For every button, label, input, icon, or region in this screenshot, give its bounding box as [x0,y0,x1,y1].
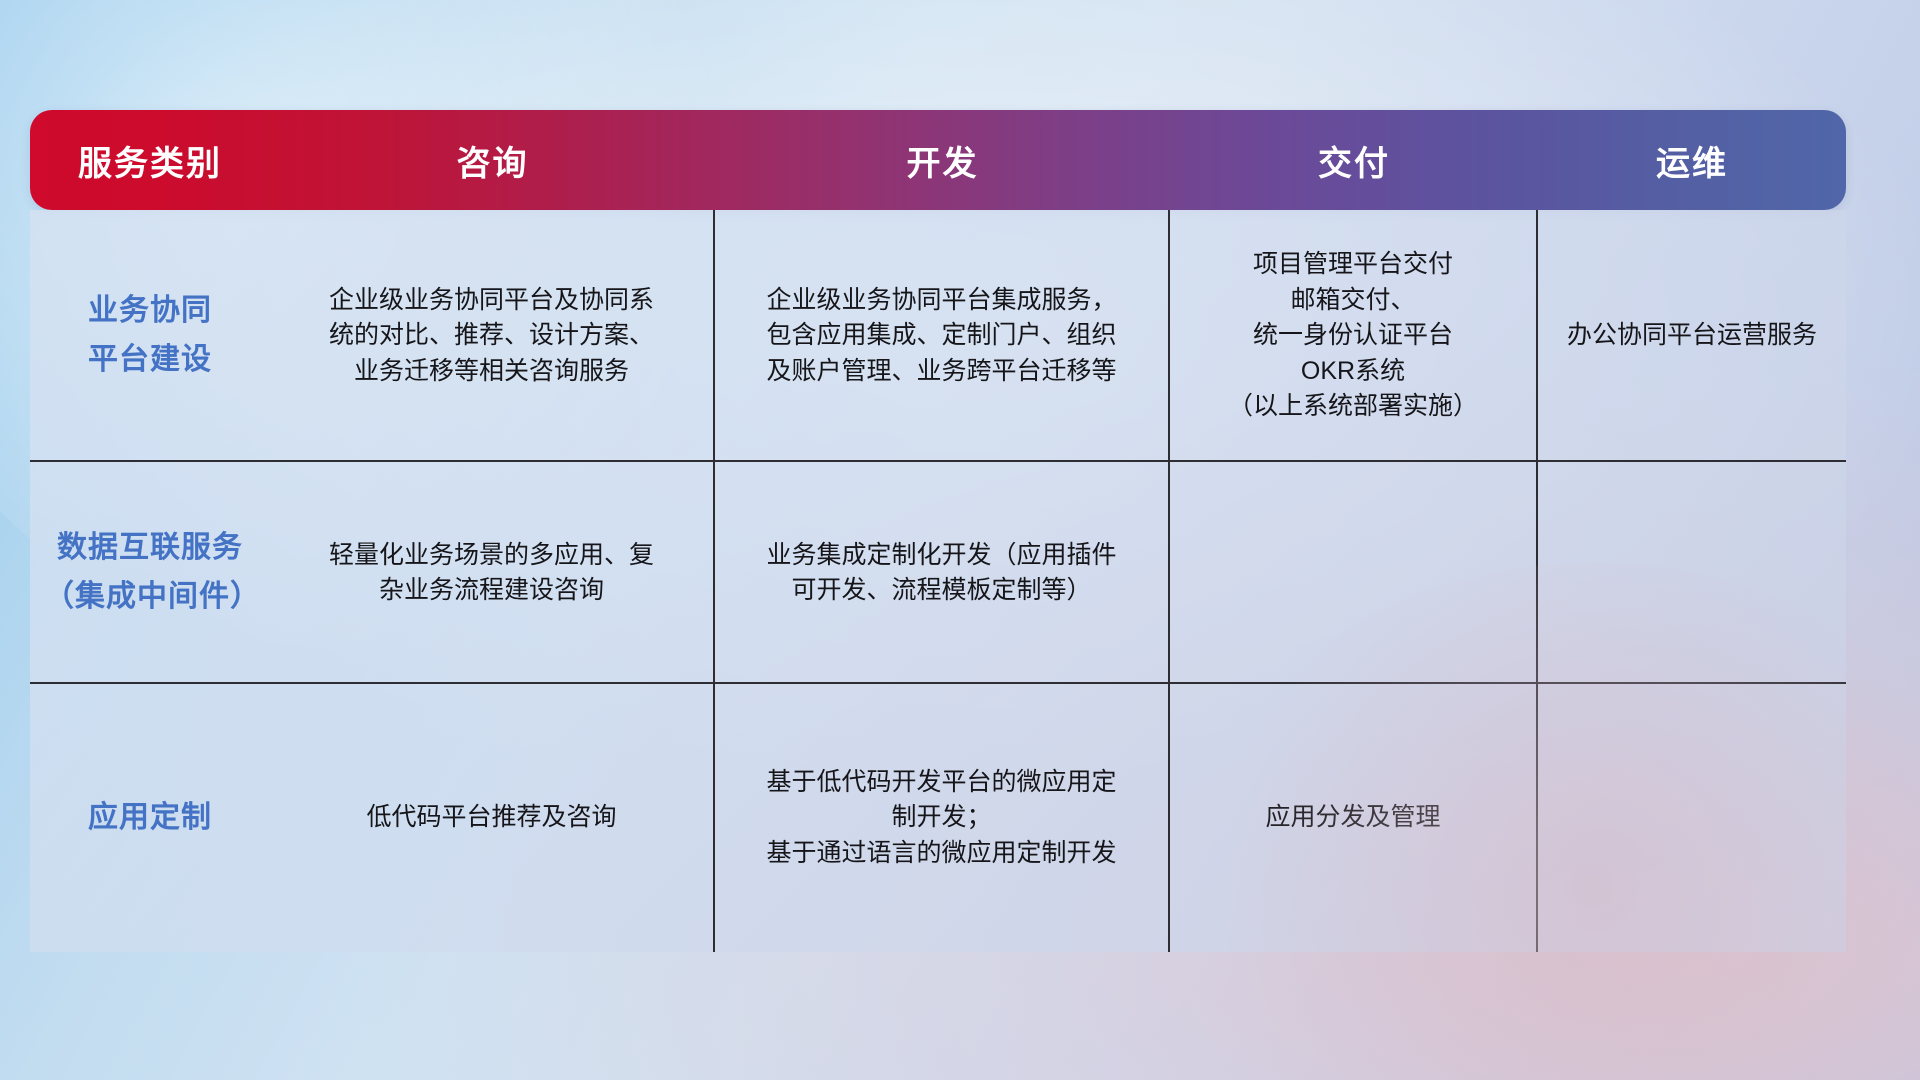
service-matrix-table: 服务类别咨询开发交付运维 业务协同 平台建设企业级业务协同平台及协同系 统的对比… [30,110,1890,960]
column-header-category: 服务类别 [30,136,270,185]
row-category-label: 应用定制 [30,684,270,952]
table-row: 数据互联服务 （集成中间件）轻量化业务场景的多应用、复 杂业务流程建设咨询业务集… [30,462,1846,684]
column-header-development: 开发 [715,136,1170,185]
row-category-label: 数据互联服务 （集成中间件） [30,462,270,684]
table-cell-delivery: 应用分发及管理 [1170,684,1538,952]
column-header-consulting: 咨询 [270,136,715,185]
table-body: 业务协同 平台建设企业级业务协同平台及协同系 统的对比、推荐、设计方案、 业务迁… [30,210,1846,952]
slide-canvas: 服务类别咨询开发交付运维 业务协同 平台建设企业级业务协同平台及协同系 统的对比… [0,0,1920,1080]
table-cell-development: 基于低代码开发平台的微应用定 制开发； 基于通过语言的微应用定制开发 [715,684,1170,952]
table-row: 业务协同 平台建设企业级业务协同平台及协同系 统的对比、推荐、设计方案、 业务迁… [30,210,1846,462]
table-cell-development: 企业级业务协同平台集成服务， 包含应用集成、定制门户、组织 及账户管理、业务跨平… [715,210,1170,462]
table-cell-operations [1538,462,1846,684]
table-row: 应用定制低代码平台推荐及咨询基于低代码开发平台的微应用定 制开发； 基于通过语言… [30,684,1846,952]
column-header-operations: 运维 [1538,136,1846,185]
table-cell-operations: 办公协同平台运营服务 [1538,210,1846,462]
table-cell-consulting: 企业级业务协同平台及协同系 统的对比、推荐、设计方案、 业务迁移等相关咨询服务 [270,210,715,462]
table-cell-consulting: 低代码平台推荐及咨询 [270,684,715,952]
table-cell-delivery [1170,462,1538,684]
table-cell-consulting: 轻量化业务场景的多应用、复 杂业务流程建设咨询 [270,462,715,684]
column-header-delivery: 交付 [1170,136,1538,185]
table-cell-development: 业务集成定制化开发（应用插件 可开发、流程模板定制等） [715,462,1170,684]
table-cell-delivery: 项目管理平台交付 邮箱交付、 统一身份认证平台 OKR系统 （以上系统部署实施） [1170,210,1538,462]
table-cell-operations [1538,684,1846,952]
row-category-label: 业务协同 平台建设 [30,210,270,462]
table-header-row: 服务类别咨询开发交付运维 [30,110,1846,210]
